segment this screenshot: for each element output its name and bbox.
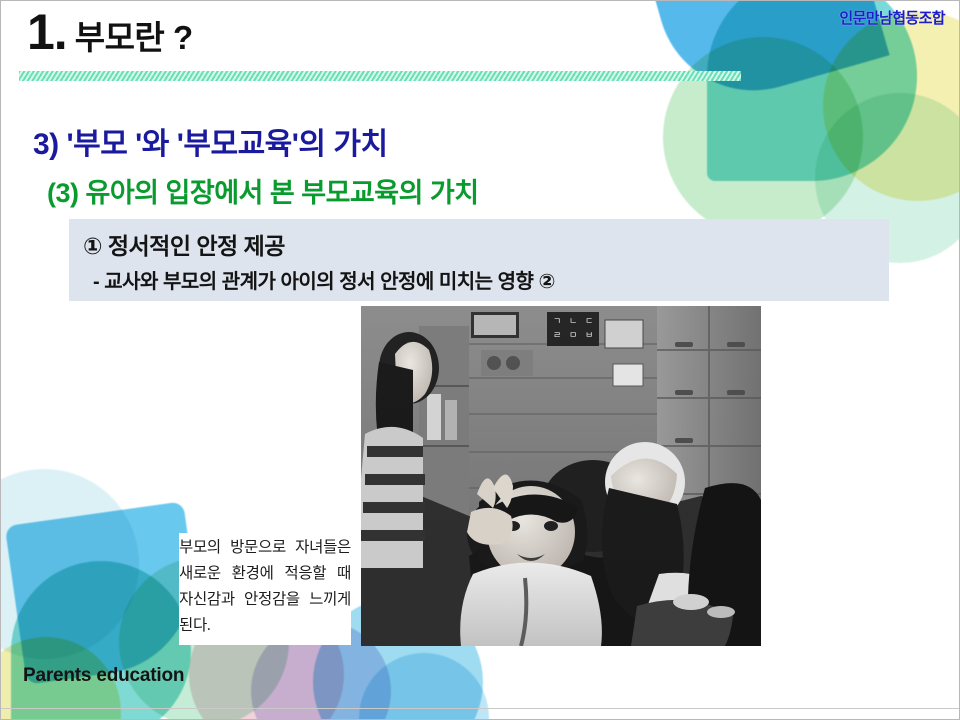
decor-shape-top-right-green-circle [663, 37, 863, 237]
photo-caption-panel: 부모의 방문으로 자녀들은 새로운 환경에 적응할 때 자신감과 안정감을 느끼… [179, 533, 351, 645]
section-heading-level-2: (3) 유아의 입장에서 본 부모교육의 가치 [47, 171, 479, 210]
decor-shape-bottom-left-pale-circle [1, 469, 139, 659]
section-heading-level-1: 3) '부모 '와 '부모교육'의 가치 [33, 119, 388, 163]
page-title-text: 부모란 ? [75, 11, 193, 59]
page-title-number: 1. [27, 3, 67, 61]
slide-canvas: 인문만남협동조합 1. 부모란 ? 3) '부모 '와 '부모교육'의 가치 (… [0, 0, 960, 720]
info-box-item-1: ① 정서적인 안정 제공 [83, 227, 285, 261]
page-title: 1. 부모란 ? [27, 3, 193, 61]
info-box-item-2: - 교사와 부모의 관계가 아이의 정서 안정에 미치는 영향 ② [93, 265, 555, 294]
decor-shape-top-right-yellow-circle [823, 11, 959, 201]
footer-rule [1, 708, 959, 709]
photo-caption-text: 부모의 방문으로 자녀들은 새로운 환경에 적응할 때 자신감과 안정감을 느끼… [179, 535, 351, 639]
info-box: ① 정서적인 안정 제공 - 교사와 부모의 관계가 아이의 정서 안정에 미치… [69, 219, 889, 301]
title-divider [19, 71, 741, 81]
classroom-photo: ㄱㄴㄷ ㄹㅁㅂ [361, 306, 761, 646]
slide-footer: Parents education [1, 649, 959, 703]
footer-label: Parents education [23, 665, 184, 687]
brand-logo-text: 인문만남협동조합 [839, 7, 945, 28]
decor-shape-top-right-teal-petal [707, 1, 917, 181]
classroom-photo-graphic: ㄱㄴㄷ ㄹㅁㅂ [361, 306, 761, 646]
